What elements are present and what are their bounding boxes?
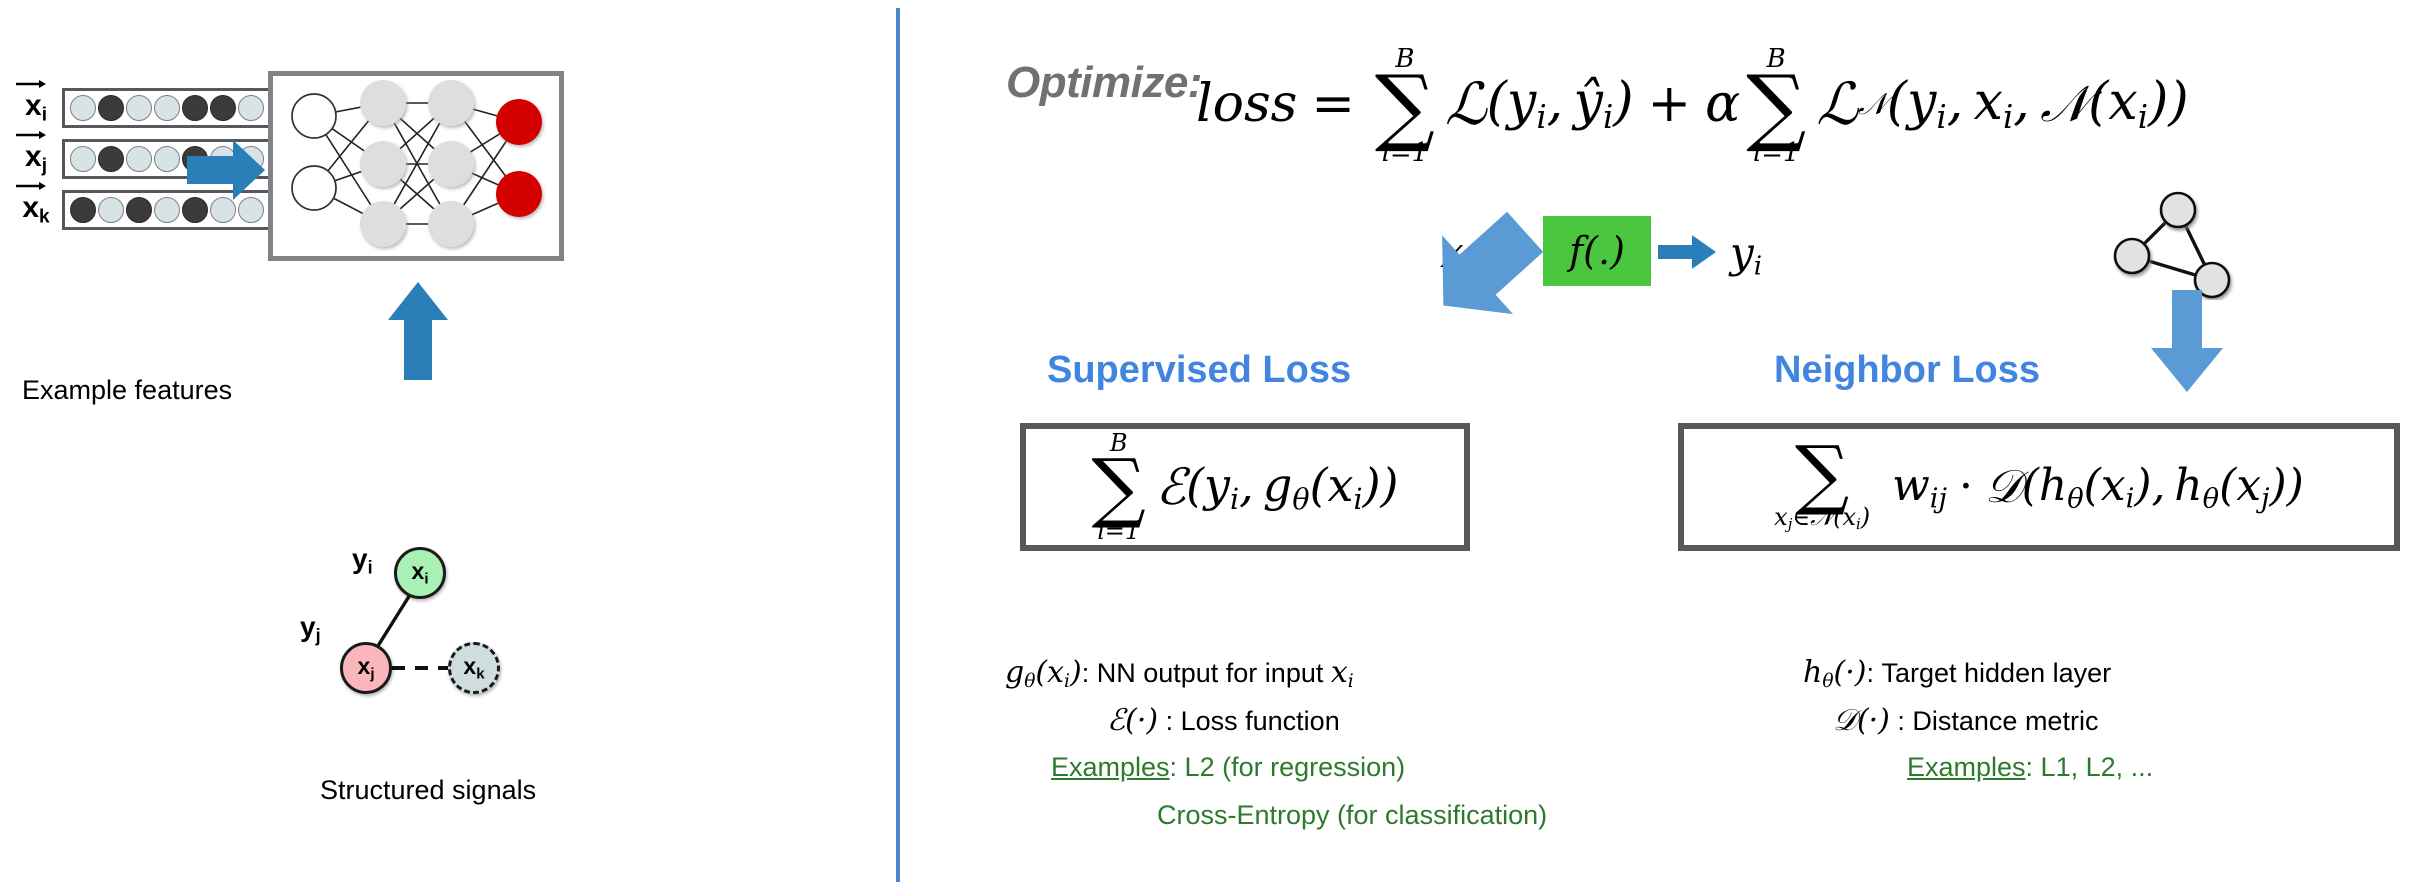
structured-signals-caption: Structured signals bbox=[320, 775, 536, 806]
neighbor-loss-box: ∑ xj∈𝒩(xi) wij · 𝒟(hθ(xi), hθ(xj)) bbox=[1678, 423, 2400, 551]
graph-y-label-yi: yi bbox=[352, 543, 373, 578]
vector-arrow-icon bbox=[15, 127, 47, 140]
graph-icon-node bbox=[2115, 239, 2149, 273]
panel-divider bbox=[896, 8, 900, 882]
summation: ∑ xj∈𝒩(xi) bbox=[1774, 442, 1870, 533]
nn-output-node bbox=[496, 99, 542, 145]
sigma-icon: ∑ bbox=[1795, 442, 1849, 506]
feature-cell bbox=[238, 95, 264, 121]
vector-label-sub: j bbox=[42, 156, 47, 177]
structured-signals-graph: xi yi xj yj xk bbox=[300, 505, 590, 755]
diagram-canvas: xi xj bbox=[0, 0, 2412, 890]
sum-lower-limit: i=1 bbox=[1382, 140, 1429, 166]
alpha-symbol: α bbox=[1705, 74, 1740, 134]
feature-cell bbox=[182, 95, 208, 121]
loss-lhs: loss bbox=[1196, 74, 1297, 134]
nn-hidden-node bbox=[360, 80, 406, 126]
vector-label-base: x bbox=[25, 89, 42, 122]
neighbor-examples-line-1: Examples: L1, L2, ... bbox=[1907, 752, 2153, 783]
supervised-branch-arrow-icon bbox=[1420, 208, 1550, 328]
signals-to-network-arrow-icon bbox=[378, 278, 458, 383]
graph-node-sub: k bbox=[476, 666, 484, 683]
neighbor-loss-equation: ∑ xj∈𝒩(xi) wij · 𝒟(hθ(xi), hθ(xj)) bbox=[1774, 442, 2304, 533]
vector-label-sub: i bbox=[42, 105, 47, 126]
examples-label: Examples bbox=[1051, 752, 1170, 782]
feature-cell bbox=[126, 95, 152, 121]
feature-row: xi bbox=[10, 88, 272, 128]
graph-edges bbox=[300, 505, 590, 755]
example-features-caption: Example features bbox=[22, 375, 232, 406]
feature-cell bbox=[126, 197, 152, 223]
sum-lower-limit: i=1 bbox=[1753, 140, 1800, 166]
vector-arrow-icon bbox=[15, 76, 47, 89]
neighbor-loss-symbol: ℒ bbox=[1816, 70, 1858, 138]
neighbor-loss-title: Neighbor Loss bbox=[1774, 349, 2040, 392]
main-loss-equation: loss = B ∑ i=1 ℒ(yi, ŷi) + α B ∑ i=1 ℒ𝒩(… bbox=[1196, 34, 2189, 174]
loss-function-symbol: ℰ bbox=[1156, 458, 1186, 516]
nn-hidden-node bbox=[360, 201, 406, 247]
supervised-legend-line-2: ℰ(·) : Loss function bbox=[1107, 703, 1340, 738]
vector-arrow-icon bbox=[15, 178, 47, 191]
feature-cell bbox=[98, 197, 124, 223]
nn-input-node bbox=[292, 94, 336, 138]
vector-label-xk: xk bbox=[10, 193, 62, 227]
nn-hidden-node bbox=[360, 141, 406, 187]
supervised-loss-equation: B ∑ i=1 ℰ(yi, gθ(xi)) bbox=[1092, 431, 1399, 543]
graph-icon-node bbox=[2161, 193, 2195, 227]
feature-cell bbox=[154, 146, 180, 172]
sigma-icon: ∑ bbox=[1375, 72, 1435, 141]
graph-node-label: x bbox=[412, 558, 425, 584]
vector-label-base: x bbox=[25, 140, 42, 173]
feature-cell bbox=[70, 146, 96, 172]
neural-network-graph bbox=[273, 76, 559, 256]
sigma-icon: ∑ bbox=[1746, 72, 1806, 141]
vector-label-xi: xi bbox=[10, 91, 62, 125]
summation-2: B ∑ i=1 bbox=[1746, 46, 1806, 167]
graph-node-sub: j bbox=[370, 666, 374, 683]
pipeline-output-label: yi bbox=[1730, 228, 1762, 281]
graph-node-sub: i bbox=[424, 571, 428, 588]
supervised-loss-title: Supervised Loss bbox=[1047, 349, 1351, 392]
graph-node-xj: xj bbox=[340, 642, 392, 694]
feature-cell bbox=[98, 146, 124, 172]
graph-node-xi: xi bbox=[394, 547, 446, 599]
graph-y-label-yj: yj bbox=[300, 611, 321, 646]
nn-hidden-node bbox=[428, 141, 474, 187]
neighbor-legend-line-1: hθ(·): Target hidden layer bbox=[1803, 655, 2111, 692]
distance-metric-symbol: 𝒟 bbox=[1985, 459, 2022, 515]
supervised-loss-symbol: ℒ bbox=[1445, 70, 1487, 138]
features-to-network-arrow-icon bbox=[185, 130, 275, 220]
pipeline-output-arrow-icon bbox=[1657, 232, 1719, 272]
feature-vector-box bbox=[62, 88, 272, 128]
vector-label-base: x bbox=[22, 191, 39, 224]
graph-node-label: x bbox=[358, 653, 371, 679]
graph-node-label: x bbox=[463, 653, 476, 679]
neural-network-box bbox=[268, 71, 564, 261]
neighborhood-graph-icon bbox=[2110, 170, 2280, 300]
supervised-legend-line-1: gθ(xi): NN output for input xi bbox=[1005, 655, 1354, 692]
feature-cell bbox=[70, 197, 96, 223]
summation: B ∑ i=1 bbox=[1092, 431, 1146, 543]
nn-input-node bbox=[292, 166, 336, 210]
sum-lower-limit: i=1 bbox=[1097, 519, 1140, 543]
neighbor-branch-arrow-icon bbox=[2145, 290, 2229, 396]
function-box-label: f(.) bbox=[1569, 229, 1625, 273]
dot-operator: · bbox=[1959, 461, 1973, 512]
nn-output-node bbox=[496, 171, 542, 217]
summation-1: B ∑ i=1 bbox=[1375, 46, 1435, 167]
supervised-loss-box: B ∑ i=1 ℰ(yi, gθ(xi)) bbox=[1020, 423, 1470, 551]
graph-node-xk: xk bbox=[448, 642, 500, 694]
nn-hidden-node bbox=[428, 201, 474, 247]
feature-cell bbox=[70, 95, 96, 121]
examples-label: Examples bbox=[1907, 752, 2026, 782]
supervised-examples-line-2: Cross-Entropy (for classification) bbox=[1157, 800, 1547, 831]
vector-label-sub: k bbox=[39, 207, 50, 228]
sigma-icon: ∑ bbox=[1092, 455, 1146, 519]
function-box: f(.) bbox=[1543, 216, 1651, 286]
edge-weight-symbol: wij bbox=[1892, 460, 1947, 515]
feature-cell bbox=[210, 95, 236, 121]
vector-label-xj: xj bbox=[10, 142, 62, 176]
feature-cell bbox=[98, 95, 124, 121]
nn-hidden-node bbox=[428, 80, 474, 126]
feature-cell bbox=[154, 95, 180, 121]
neighbor-legend-line-2: 𝒟(·) : Distance metric bbox=[1833, 703, 2098, 738]
supervised-examples-line-1: Examples: L2 (for regression) bbox=[1051, 752, 1405, 783]
feature-cell bbox=[126, 146, 152, 172]
sum-lower-limit: xj∈𝒩(xi) bbox=[1774, 505, 1870, 532]
feature-cell bbox=[154, 197, 180, 223]
optimize-label: Optimize: bbox=[1006, 58, 1202, 108]
